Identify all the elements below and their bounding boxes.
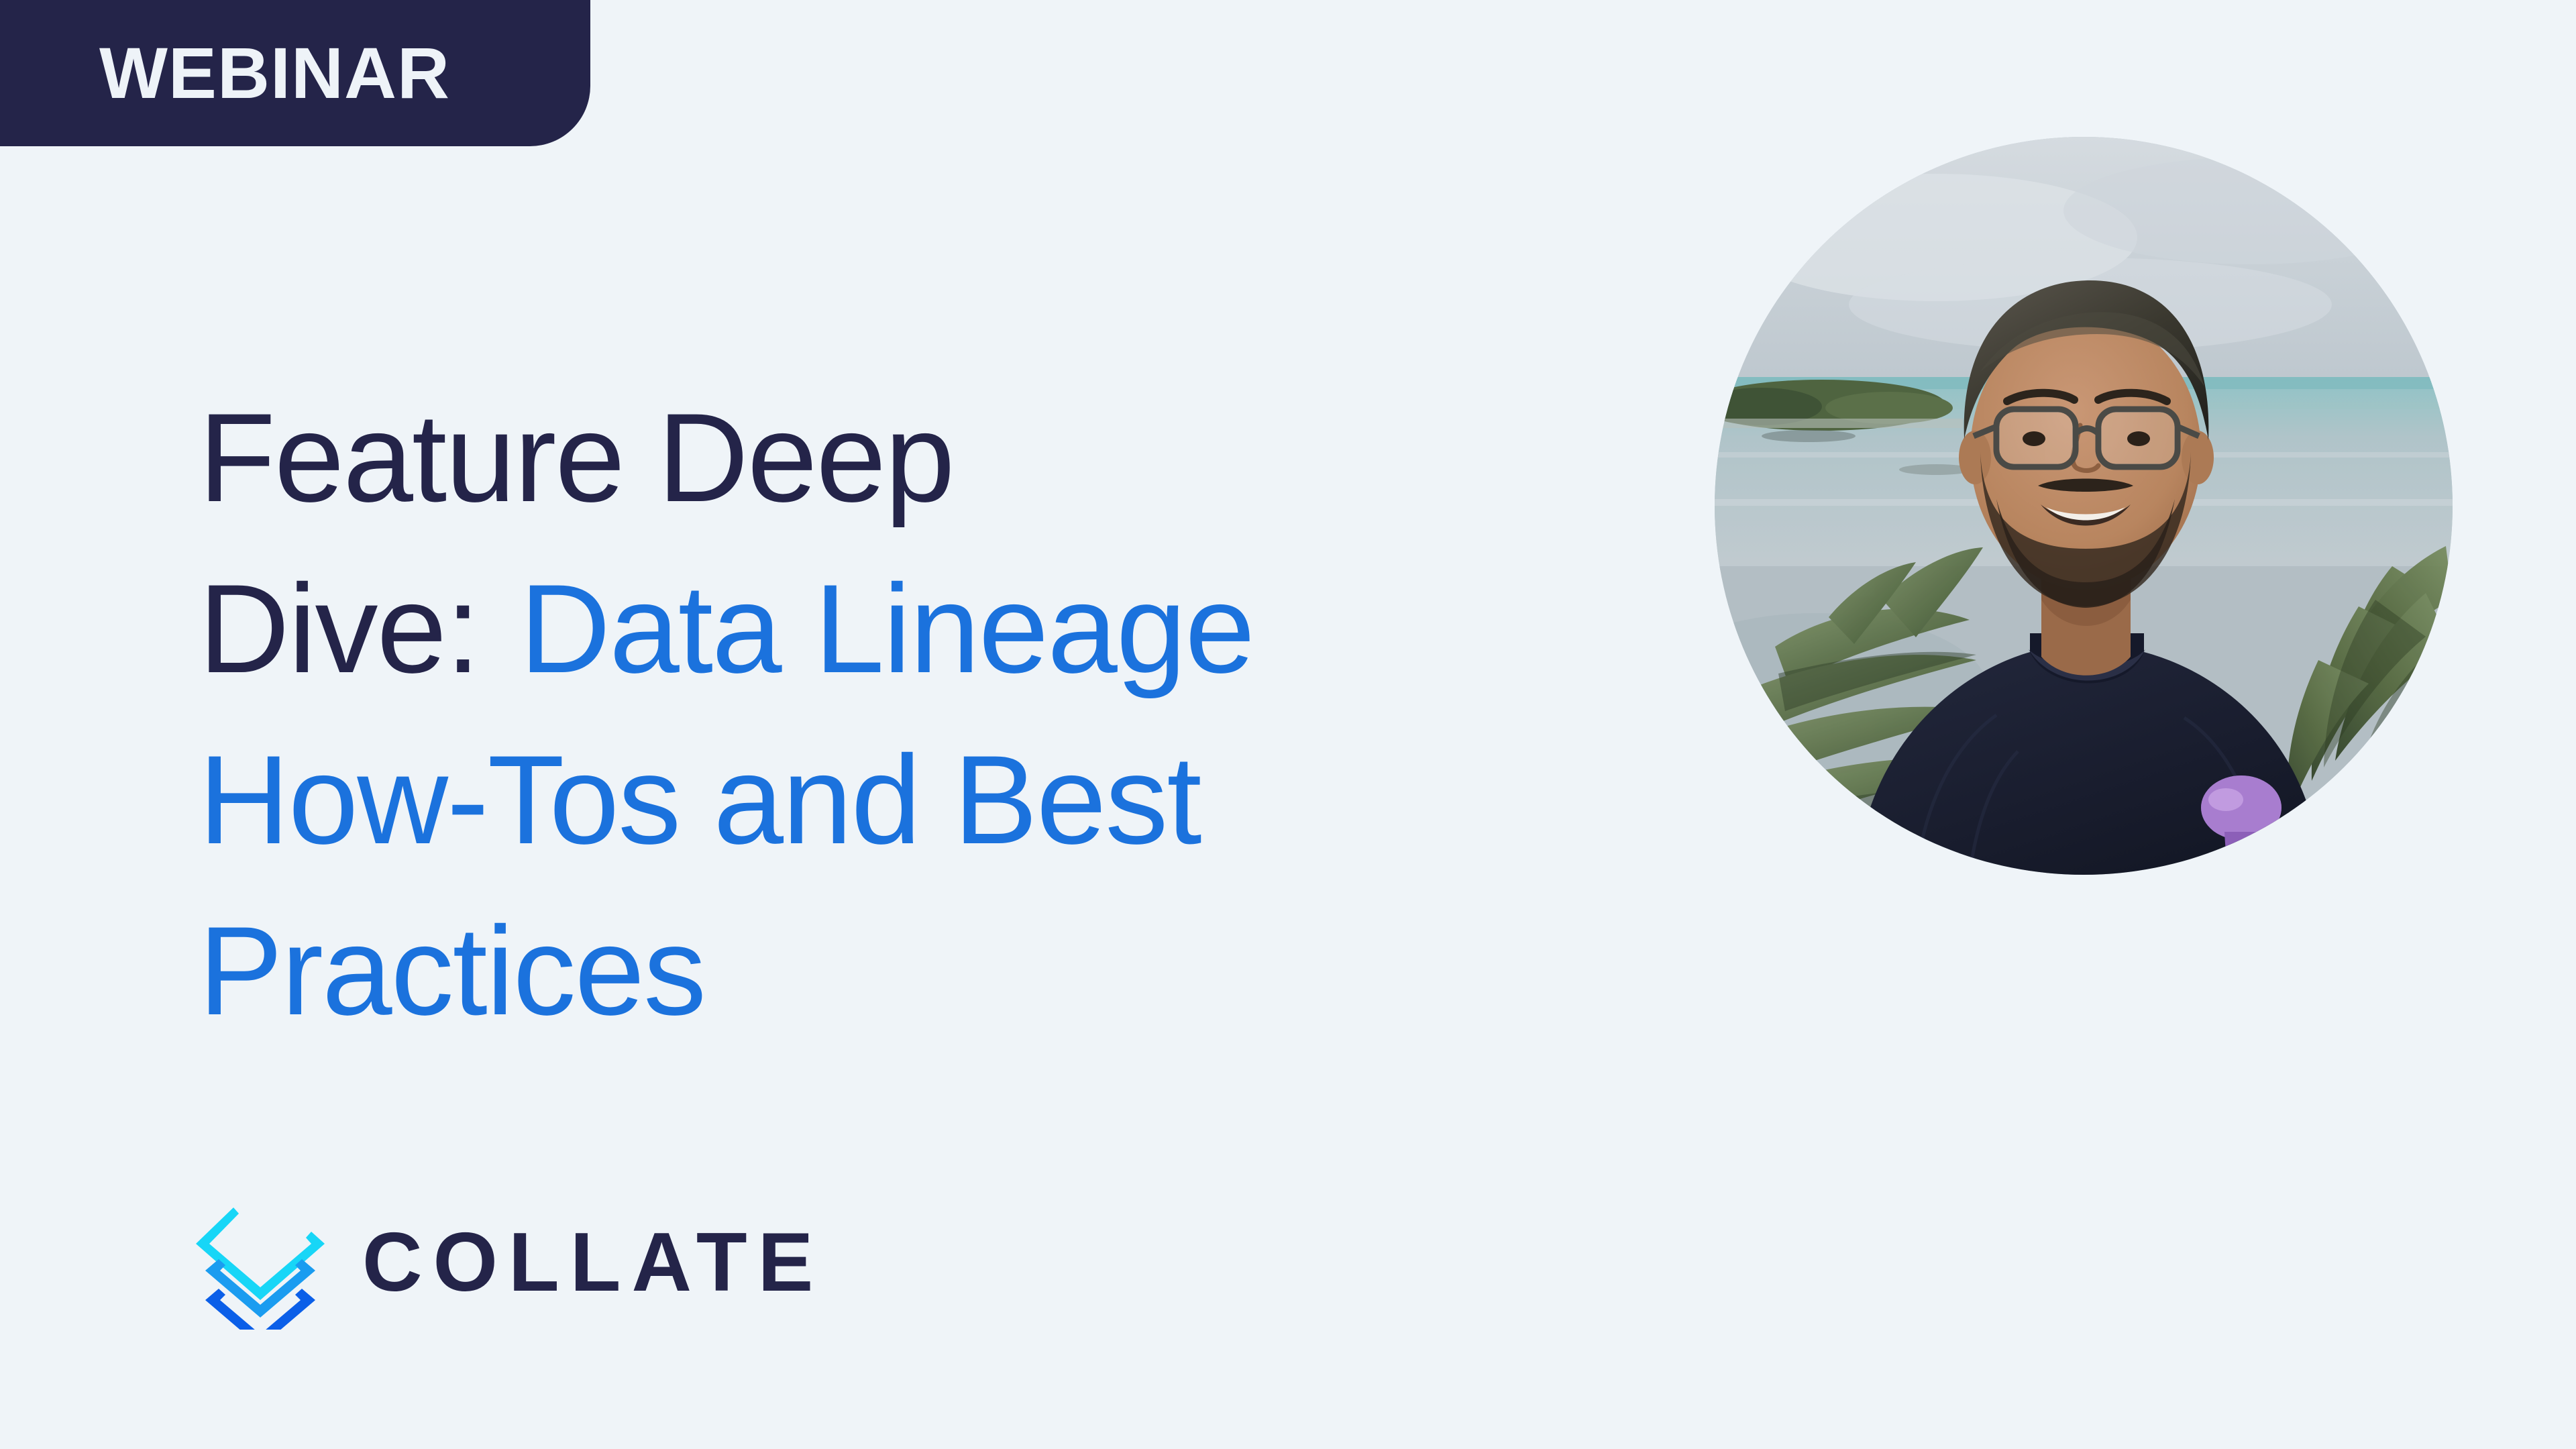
headline-line-3: How-Tos and Best xyxy=(199,714,1607,885)
headline-line-2: Dive:Data Lineage xyxy=(199,543,1607,714)
collate-wordmark: COLLATE xyxy=(362,1221,824,1304)
headline-line-4: Practices xyxy=(199,885,1607,1057)
portrait-illustration xyxy=(1715,137,2453,875)
speaker-portrait xyxy=(1715,137,2453,875)
webinar-promo-card: WEBINAR Feature Deep Dive:Data Lineage H… xyxy=(0,0,2576,1449)
layers-icon-svg xyxy=(193,1195,327,1330)
webinar-badge-label: WEBINAR xyxy=(99,37,450,109)
headline-line-2-navy: Dive: xyxy=(199,558,479,699)
collate-logo: COLLATE xyxy=(193,1195,824,1330)
webinar-badge: WEBINAR xyxy=(0,0,590,146)
headline-line-1: Feature Deep xyxy=(199,372,1607,543)
headline-line-2-blue: Data Lineage xyxy=(519,558,1253,699)
headline-block: Feature Deep Dive:Data Lineage How-Tos a… xyxy=(199,372,1607,1057)
collate-stacked-layers-icon xyxy=(193,1195,327,1330)
